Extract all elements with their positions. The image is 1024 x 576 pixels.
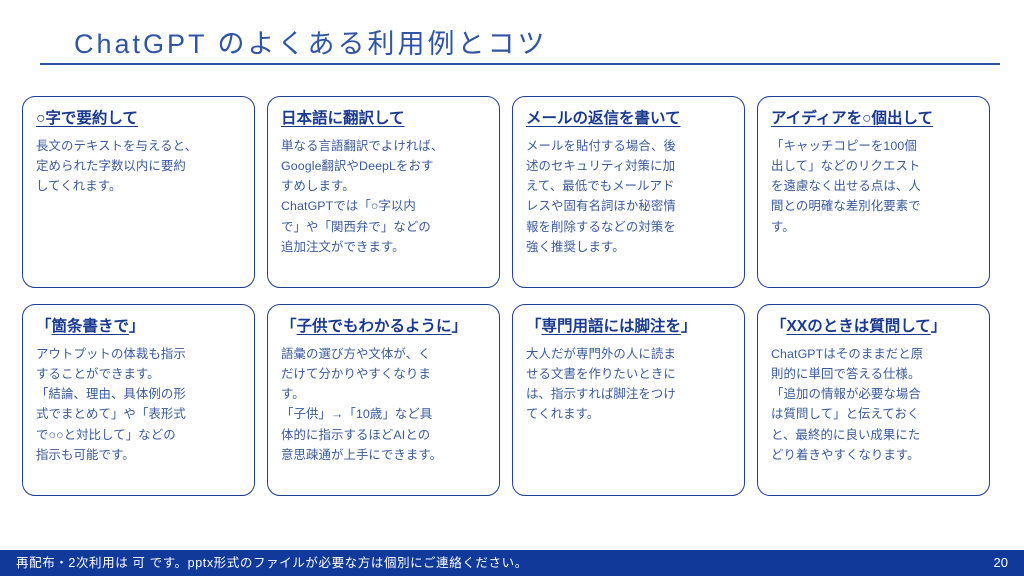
tip-card: ○字で要約して 長文のテキストを与えると、 定められた字数以内に要約 してくれま… <box>22 96 255 288</box>
tip-card-heading: アイディアを○個出して <box>771 109 978 129</box>
tip-card: メールの返信を書いて メールを貼付する場合、後 述のセキュリティ対策に加 えて、… <box>512 96 745 288</box>
heading-bracket-close: 」 <box>681 318 697 335</box>
tip-card: 「箇条書きで」 アウトプットの体裁も指示 することができます。 「結論、理由、具… <box>22 304 255 496</box>
heading-text: ○字で要約して <box>36 110 138 127</box>
tip-card-heading: 「箇条書きで」 <box>36 317 243 337</box>
heading-bracket-open: 「 <box>771 318 787 335</box>
tips-card-grid: ○字で要約して 長文のテキストを与えると、 定められた字数以内に要約 してくれま… <box>22 96 1004 496</box>
title-divider <box>40 63 1000 65</box>
heading-bracket-open: 「 <box>36 318 52 335</box>
tip-card: 「子供でもわかるように」 語彙の選び方や文体が、く だけて分かりやすくなりま す… <box>267 304 500 496</box>
tip-card: 「専門用語には脚注を」 大人だが専門外の人に読ま せる文書を作りたいときに は、… <box>512 304 745 496</box>
tip-card-body: 語彙の選び方や文体が、く だけて分かりやすくなりま す。 「子供」→「10歳」な… <box>281 344 488 465</box>
heading-bracket-open: 「 <box>526 318 542 335</box>
footer-bar: 再配布・2次利用は 可 です。pptx形式のファイルが必要な方は個別にご連絡くだ… <box>0 550 1024 576</box>
heading-text: XXのときは質問して <box>787 318 931 335</box>
footer-note: 再配布・2次利用は 可 です。pptx形式のファイルが必要な方は個別にご連絡くだ… <box>16 550 528 576</box>
tip-card: アイディアを○個出して 「キャッチコピーを100個 出して」などのリクエスト を… <box>757 96 990 288</box>
heading-bracket-close: 」 <box>452 318 468 335</box>
tip-card-body: 長文のテキストを与えると、 定められた字数以内に要約 してくれます。 <box>36 136 243 196</box>
tip-card-body: 「キャッチコピーを100個 出して」などのリクエスト を遠慮なく出せる点は、人 … <box>771 136 978 236</box>
slide-page-number: 20 <box>994 550 1008 576</box>
heading-text: 子供でもわかるように <box>297 318 452 335</box>
heading-text: アイディアを○個出して <box>771 110 933 127</box>
tip-card-heading: メールの返信を書いて <box>526 109 733 129</box>
heading-bracket-open: 「 <box>281 318 297 335</box>
tip-card-heading: ○字で要約して <box>36 109 243 129</box>
heading-text: メールの返信を書いて <box>526 110 681 127</box>
page-title: ChatGPT のよくある利用例とコツ <box>74 22 548 61</box>
heading-text: 専門用語には脚注を <box>542 318 682 335</box>
tip-card: 日本語に翻訳して 単なる言語翻訳でよければ、 Google翻訳やDeepLをおす… <box>267 96 500 288</box>
heading-bracket-close: 」 <box>129 318 145 335</box>
heading-text: 日本語に翻訳して <box>281 110 405 127</box>
heading-bracket-close: 」 <box>931 318 947 335</box>
tip-card-body: ChatGPTはそのままだと原 則的に単回で答える仕様。 「追加の情報が必要な場… <box>771 344 978 465</box>
tip-card-body: 単なる言語翻訳でよければ、 Google翻訳やDeepLをおす すめします。 C… <box>281 136 488 257</box>
tip-card-heading: 「子供でもわかるように」 <box>281 317 488 337</box>
tip-card-heading: 「XXのときは質問して」 <box>771 317 978 337</box>
tip-card: 「XXのときは質問して」 ChatGPTはそのままだと原 則的に単回で答える仕様… <box>757 304 990 496</box>
slide: ChatGPT のよくある利用例とコツ ○字で要約して 長文のテキストを与えると… <box>0 0 1024 576</box>
tip-card-body: 大人だが専門外の人に読ま せる文書を作りたいときに は、指示すれば脚注をつけ て… <box>526 344 733 424</box>
heading-text: 箇条書きで <box>52 318 130 335</box>
tip-card-heading: 日本語に翻訳して <box>281 109 488 129</box>
tip-card-body: アウトプットの体裁も指示 することができます。 「結論、理由、具体例の形 式でま… <box>36 344 243 465</box>
tip-card-body: メールを貼付する場合、後 述のセキュリティ対策に加 えて、最低でもメールアド レ… <box>526 136 733 257</box>
tip-card-heading: 「専門用語には脚注を」 <box>526 317 733 337</box>
